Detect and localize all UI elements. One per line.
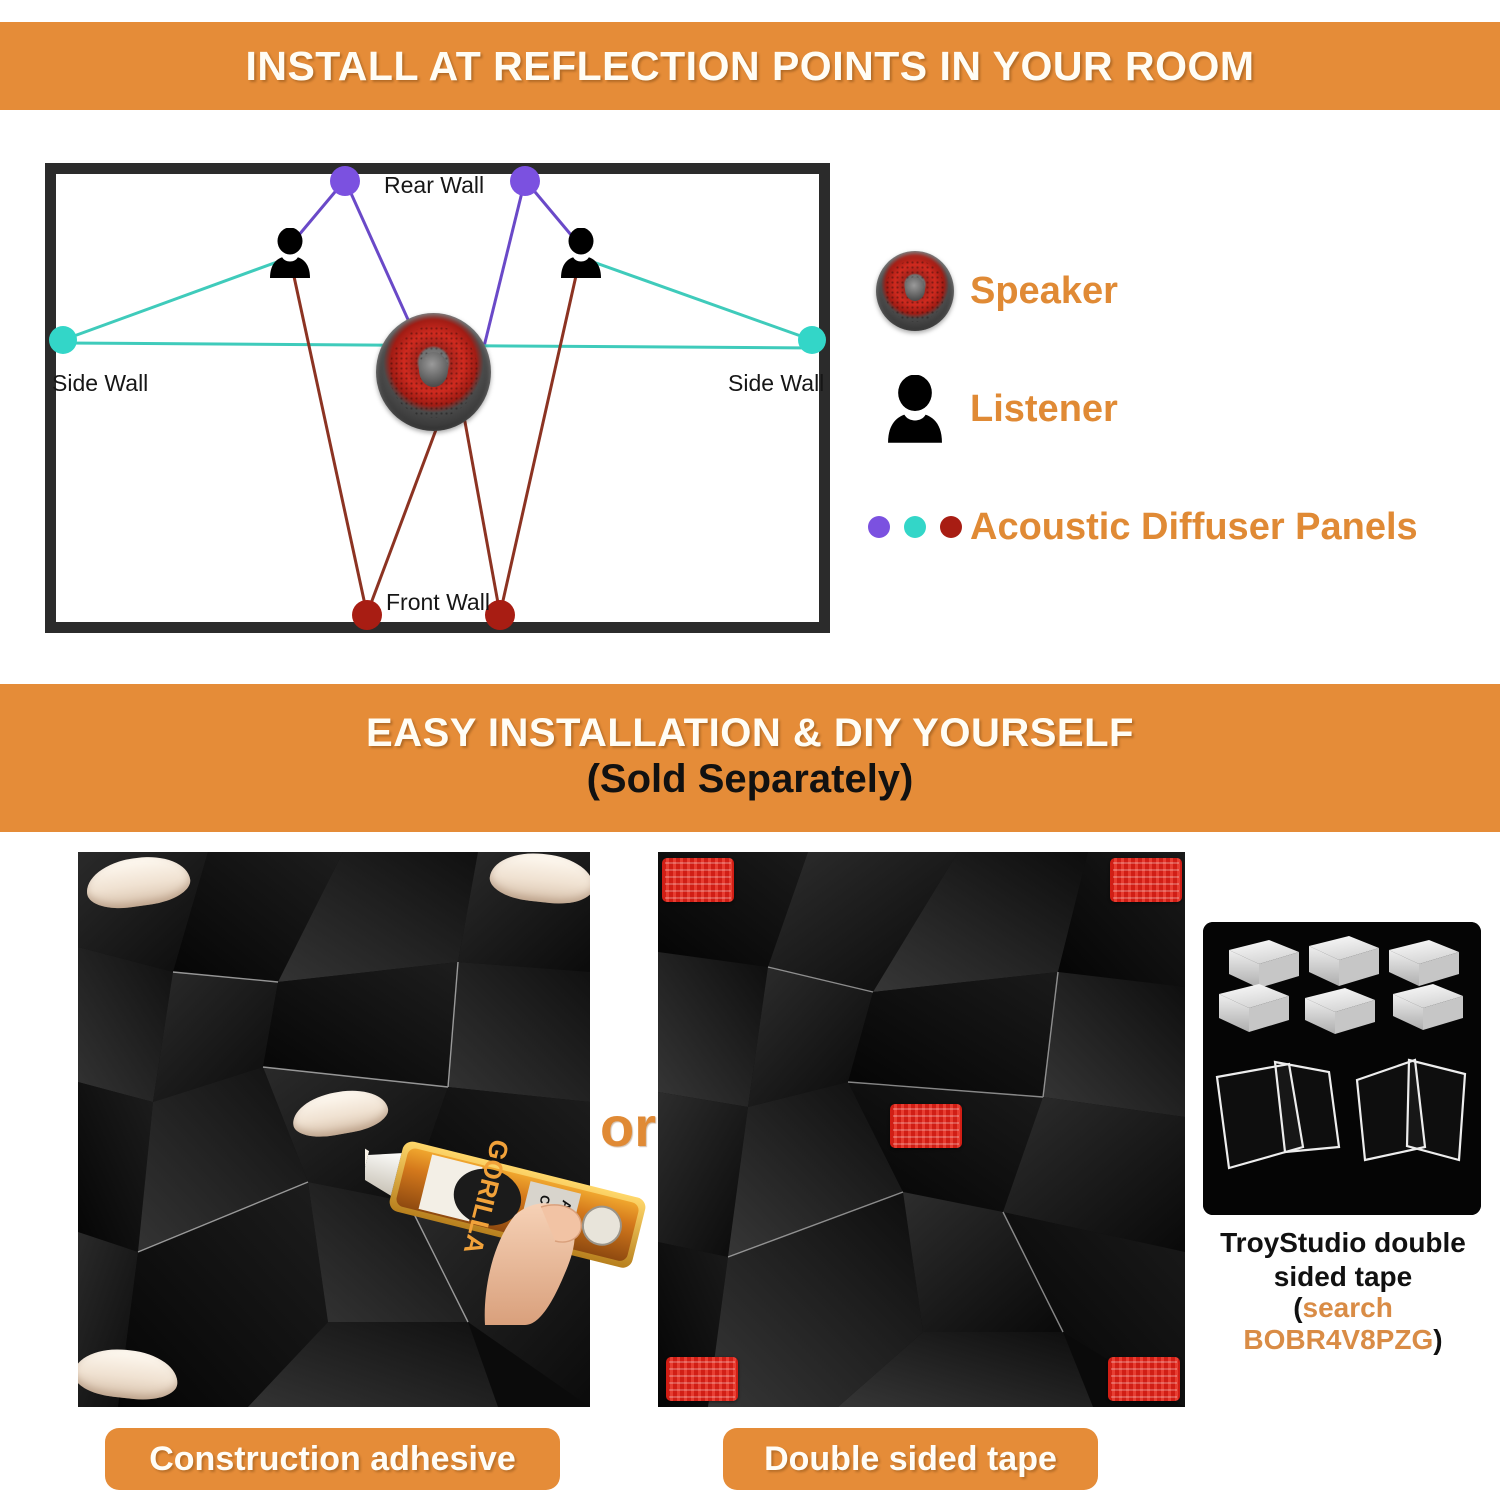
diagram-legend: Speaker Listener Acoustic Diffuser P — [860, 252, 1500, 606]
tape-product-illustration — [1203, 922, 1481, 1215]
legend-item-speaker: Speaker — [860, 252, 1500, 330]
search-asin-text: search BOBR4V8PZG — [1243, 1292, 1433, 1355]
listener-icon — [860, 370, 970, 448]
tape-product-caption: TroyStudio double sided tape — [1195, 1226, 1491, 1294]
diffuser-dot-side-right — [798, 326, 826, 354]
speaker-icon — [860, 252, 970, 330]
caption-construction-adhesive: Construction adhesive — [105, 1428, 560, 1490]
label-rear-wall: Rear Wall — [384, 172, 484, 199]
legend-dot-purple — [868, 516, 890, 538]
tape-product-search-note: (search BOBR4V8PZG) — [1190, 1292, 1496, 1356]
diffuser-dot-front-left — [352, 600, 382, 630]
middle-banner: EASY INSTALLATION & DIY YOURSELF (Sold S… — [0, 684, 1500, 832]
tape-square-bottom-right — [1108, 1357, 1180, 1401]
top-banner-title: INSTALL AT REFLECTION POINTS IN YOUR ROO… — [245, 43, 1254, 90]
speaker-icon-room — [376, 313, 491, 431]
label-front-wall: Front Wall — [386, 589, 490, 616]
legend-dot-teal — [904, 516, 926, 538]
tape-product-name-line1: TroyStudio double — [1195, 1226, 1491, 1260]
diffuser-dot-rear-left — [330, 166, 360, 196]
middle-banner-subtitle: (Sold Separately) — [587, 754, 914, 804]
legend-label-diffuser: Acoustic Diffuser Panels — [970, 506, 1418, 549]
diffuser-dot-rear-right — [510, 166, 540, 196]
legend-item-diffuser: Acoustic Diffuser Panels — [860, 488, 1500, 566]
product-infographic: INSTALL AT REFLECTION POINTS IN YOUR ROO… — [0, 0, 1500, 1500]
or-separator-label: or — [600, 1094, 656, 1159]
middle-banner-title: EASY INSTALLATION & DIY YOURSELF — [366, 712, 1134, 754]
label-side-wall-right: Side Wall — [728, 370, 824, 397]
tape-product-name-line2: sided tape — [1195, 1260, 1491, 1294]
diffuser-dots-icon — [860, 488, 970, 566]
tape-square-top-left — [662, 858, 734, 902]
photo-double-sided-tape — [658, 852, 1185, 1407]
tape-square-bottom-left — [666, 1357, 738, 1401]
listener-icon-right — [558, 228, 604, 278]
diffuser-dot-side-left — [49, 326, 77, 354]
listener-icon-left — [267, 228, 313, 278]
label-side-wall-left: Side Wall — [52, 370, 148, 397]
top-banner: INSTALL AT REFLECTION POINTS IN YOUR ROO… — [0, 22, 1500, 110]
tape-product-image — [1203, 922, 1481, 1215]
legend-label-speaker: Speaker — [970, 270, 1118, 313]
search-paren-close: ) — [1433, 1324, 1442, 1355]
search-paren-open: ( — [1293, 1292, 1302, 1323]
legend-dot-red — [940, 516, 962, 538]
legend-label-listener: Listener — [970, 388, 1118, 431]
tape-square-center — [890, 1104, 962, 1148]
legend-item-listener: Listener — [860, 370, 1500, 448]
caption-double-sided-tape: Double sided tape — [723, 1428, 1098, 1490]
tape-square-top-right — [1110, 858, 1182, 902]
